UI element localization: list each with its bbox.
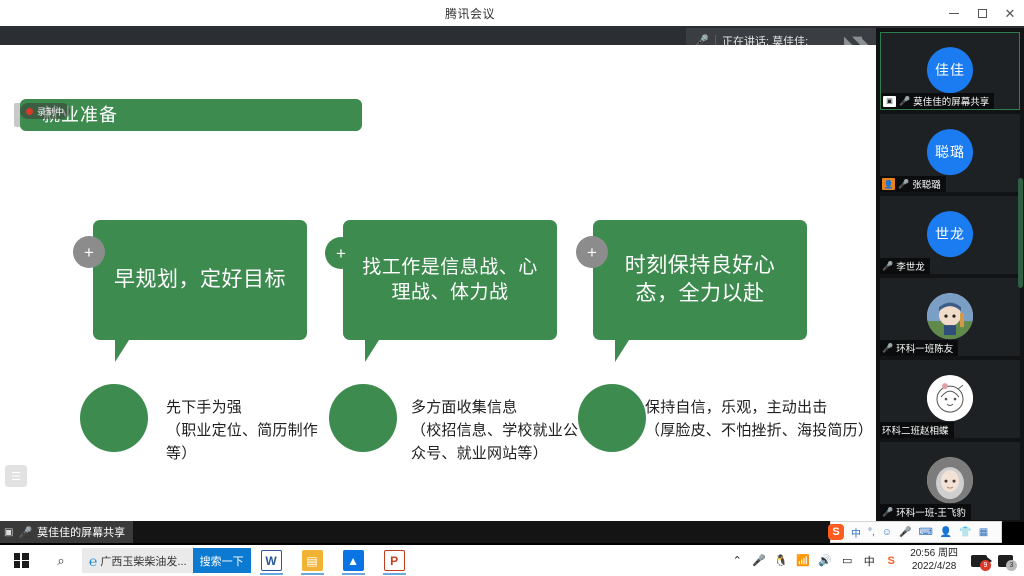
- participant-name: 环科一班-王飞豹: [896, 505, 966, 519]
- microphone-icon[interactable]: 🎤: [748, 545, 770, 576]
- powerpoint-icon: P: [384, 550, 405, 571]
- minimize-button[interactable]: [940, 0, 968, 26]
- speech-bubble-3: 时刻保持良好心态，全力以赴: [593, 220, 807, 340]
- participant-footer: 👤 🎤 张聪璐: [880, 176, 946, 192]
- plus-icon-3[interactable]: +: [576, 236, 608, 268]
- ime-user-icon[interactable]: 👤: [940, 527, 952, 538]
- plus-glyph: +: [587, 244, 597, 261]
- sogou-tray-icon[interactable]: S: [880, 545, 902, 576]
- windows-taskbar: ⌕ ℮ 广西玉柴柴油发... 搜索一下 W ▤ ▲ P ⌃ 🎤 🐧 📶 🔊: [0, 545, 1024, 576]
- shared-screen-stage[interactable]: 就业准备 录制中 早规划，定好目标 + 找工作是信息战、心理战、体力战 + 时刻…: [0, 45, 876, 521]
- speech-bubble-2: 找工作是信息战、心理战、体力战: [343, 220, 557, 340]
- bullet-circle-3: [578, 384, 646, 452]
- screen-share-icon: ▣: [4, 527, 13, 538]
- mic-muted-icon: 🎤: [898, 179, 909, 190]
- avatar: 佳佳: [927, 47, 973, 93]
- host-badge-icon: 👤: [882, 178, 895, 190]
- clock-date: 2022/4/28: [912, 561, 957, 573]
- mic-muted-icon: 🎤: [882, 261, 893, 272]
- wifi-icon[interactable]: 📶: [792, 545, 814, 576]
- system-tray: ⌃ 🎤 🐧 📶 🔊 ▭ 中 S 20:56 周四 2022/4/28 9 3: [726, 545, 1024, 576]
- file-explorer-icon: ▤: [302, 550, 323, 571]
- avatar: [927, 457, 973, 503]
- cartoon-character-avatar-icon: [927, 293, 973, 339]
- point-text-1: 先下手为强 （职业定位、简历制作等）: [166, 397, 326, 465]
- participant-name: 莫佳佳的屏幕共享: [913, 94, 989, 108]
- ime-keyboard-icon[interactable]: ⌨: [918, 527, 932, 538]
- participant-tile-3[interactable]: 世龙 🎤 李世龙: [880, 196, 1020, 274]
- bubble-text-1: 早规划，定好目标: [114, 266, 286, 294]
- sogou-logo-icon[interactable]: S: [828, 524, 844, 540]
- close-button[interactable]: ✕: [996, 0, 1024, 26]
- ime-punctuation-icon[interactable]: °,: [868, 527, 875, 538]
- participant-name: 张聪璐: [912, 177, 941, 191]
- chevron-up-icon[interactable]: ⌃: [726, 545, 748, 576]
- point-text-3: 保持自信，乐观，主动出击 （厚脸皮、不怕挫折、海投简历）: [645, 397, 875, 443]
- avatar: [927, 293, 973, 339]
- microphone-icon: 🎤: [18, 526, 32, 539]
- participant-scrollbar[interactable]: [1018, 178, 1023, 288]
- speech-bubble-1: 早规划，定好目标: [93, 220, 307, 340]
- participant-tile-2[interactable]: 聪璐 👤 🎤 张聪璐: [880, 114, 1020, 192]
- participant-name: 环科一班陈友: [896, 341, 953, 355]
- search-query-text: 广西玉柴柴油发...: [100, 553, 192, 569]
- tencent-meeting-icon: ▲: [343, 550, 364, 571]
- app-active-underline: [301, 573, 324, 575]
- recording-label: 录制中: [37, 105, 64, 118]
- plus-glyph: +: [336, 245, 346, 262]
- avatar: [927, 375, 973, 421]
- participant-tile-6[interactable]: 🎤 环科一班-王飞豹: [880, 442, 1020, 520]
- record-dot-icon: [26, 108, 33, 115]
- participant-tile-1[interactable]: 佳佳 ▣ 🎤 莫佳佳的屏幕共享: [880, 32, 1020, 110]
- participant-footer: 🎤 环科一班-王飞豹: [880, 504, 971, 520]
- window-title: 腾讯会议: [0, 5, 940, 22]
- bullet-circle-1: [80, 384, 148, 452]
- ime-apps-icon[interactable]: ▦: [979, 527, 988, 538]
- app-active-underline: [342, 573, 365, 575]
- windows-start-icon: [14, 553, 29, 568]
- ime-skin-icon[interactable]: 👕: [959, 527, 971, 538]
- taskbar-app-word[interactable]: W: [251, 545, 292, 576]
- app-active-underline: [260, 573, 283, 575]
- avatar: 聪璐: [927, 129, 973, 175]
- taskbar-app-powerpoint[interactable]: P: [374, 545, 415, 576]
- qq-icon[interactable]: 🐧: [770, 545, 792, 576]
- maximize-button[interactable]: [968, 0, 996, 26]
- ime-indicator-icon[interactable]: 中: [858, 545, 880, 576]
- slide-title: 就业准备: [20, 99, 362, 131]
- clock-time: 20:56 周四: [910, 548, 958, 560]
- volume-icon[interactable]: 🔊: [814, 545, 836, 576]
- participant-tile-4[interactable]: 🎤 环科一班陈友: [880, 278, 1020, 356]
- participant-name: 李世龙: [896, 259, 925, 273]
- video-badge-count: 9: [980, 560, 991, 571]
- bullet-circle-2: [329, 384, 397, 452]
- close-icon: ✕: [1005, 7, 1016, 20]
- search-submit-button[interactable]: 搜索一下: [193, 548, 251, 573]
- window-titlebar: 腾讯会议 ✕: [0, 0, 1024, 26]
- participant-tile-5[interactable]: 环科二班赵相蝶: [880, 360, 1020, 438]
- minimize-icon: [949, 13, 959, 14]
- participant-name: 环科二班赵相蝶: [882, 423, 949, 437]
- ime-emoji-icon[interactable]: ☺: [882, 527, 892, 538]
- edge-search-box[interactable]: ℮ 广西玉柴柴油发... 搜索一下: [82, 548, 251, 573]
- slideshow-menu-icon[interactable]: ☰: [5, 465, 27, 487]
- taskbar-clock[interactable]: 20:56 周四 2022/4/28: [902, 548, 966, 572]
- participant-footer: 🎤 李世龙: [880, 258, 930, 274]
- start-button[interactable]: [0, 545, 42, 576]
- taskbar-app-tencent-meeting[interactable]: ▲: [333, 545, 374, 576]
- taskbar-search-icon[interactable]: ⌕: [42, 545, 80, 576]
- ime-voice-icon[interactable]: 🎤: [899, 527, 911, 538]
- tencent-meeting-window: 腾讯会议 ✕ 🎤 正在讲话: 莫佳佳; ◣◥◣ 就业准备 录制中 早规划，定好目…: [0, 0, 1024, 576]
- window-controls: ✕: [940, 0, 1024, 26]
- battery-icon[interactable]: ▭: [836, 545, 858, 576]
- recording-badge: 录制中: [20, 103, 70, 119]
- mic-on-icon: 🎤: [899, 96, 910, 107]
- word-icon: W: [261, 550, 282, 571]
- video-tray-button[interactable]: 9: [966, 545, 992, 576]
- share-badge-icon: ▣: [883, 96, 896, 107]
- mic-muted-icon: 🎤: [882, 507, 893, 518]
- notification-badge-count: 3: [1006, 560, 1017, 571]
- sogou-ime-bar[interactable]: S 中 °, ☺ 🎤 ⌨ 👤 👕 ▦: [830, 521, 1002, 543]
- plus-icon-2[interactable]: +: [325, 237, 357, 269]
- sketch-drawing-avatar-icon: [927, 375, 973, 421]
- bubble-text-2: 找工作是信息战、心理战、体力战: [355, 255, 545, 305]
- avatar: 世龙: [927, 211, 973, 257]
- edge-icon: ℮: [86, 553, 100, 569]
- photo-portrait-avatar-icon: [927, 457, 973, 503]
- participant-footer: 环科二班赵相蝶: [880, 422, 954, 438]
- participant-list[interactable]: 佳佳 ▣ 🎤 莫佳佳的屏幕共享 聪璐 👤 🎤 张聪璐 世龙 🎤 李世龙: [876, 28, 1024, 522]
- mic-muted-icon: 🎤: [882, 343, 893, 354]
- notifications-button[interactable]: 3: [992, 545, 1018, 576]
- plus-glyph: +: [84, 244, 94, 261]
- bubble-text-3: 时刻保持良好心态，全力以赴: [605, 252, 795, 307]
- share-status-label: 莫佳佳的屏幕共享: [37, 524, 125, 540]
- ime-mode-chinese[interactable]: 中: [851, 525, 861, 540]
- participant-footer: 🎤 环科一班陈友: [880, 340, 958, 356]
- share-status-chip: ▣ 🎤 莫佳佳的屏幕共享: [0, 521, 133, 543]
- taskbar-app-file-explorer[interactable]: ▤: [292, 545, 333, 576]
- maximize-icon: [978, 9, 987, 18]
- share-status-bar: ▣ 🎤 莫佳佳的屏幕共享: [0, 521, 876, 543]
- powerpoint-slide: 就业准备 录制中 早规划，定好目标 + 找工作是信息战、心理战、体力战 + 时刻…: [0, 45, 876, 521]
- point-text-2: 多方面收集信息 （校招信息、学校就业公众号、就业网站等）: [411, 397, 583, 465]
- plus-icon-1[interactable]: +: [73, 236, 105, 268]
- app-active-underline: [383, 573, 406, 575]
- participant-footer: ▣ 🎤 莫佳佳的屏幕共享: [881, 93, 994, 109]
